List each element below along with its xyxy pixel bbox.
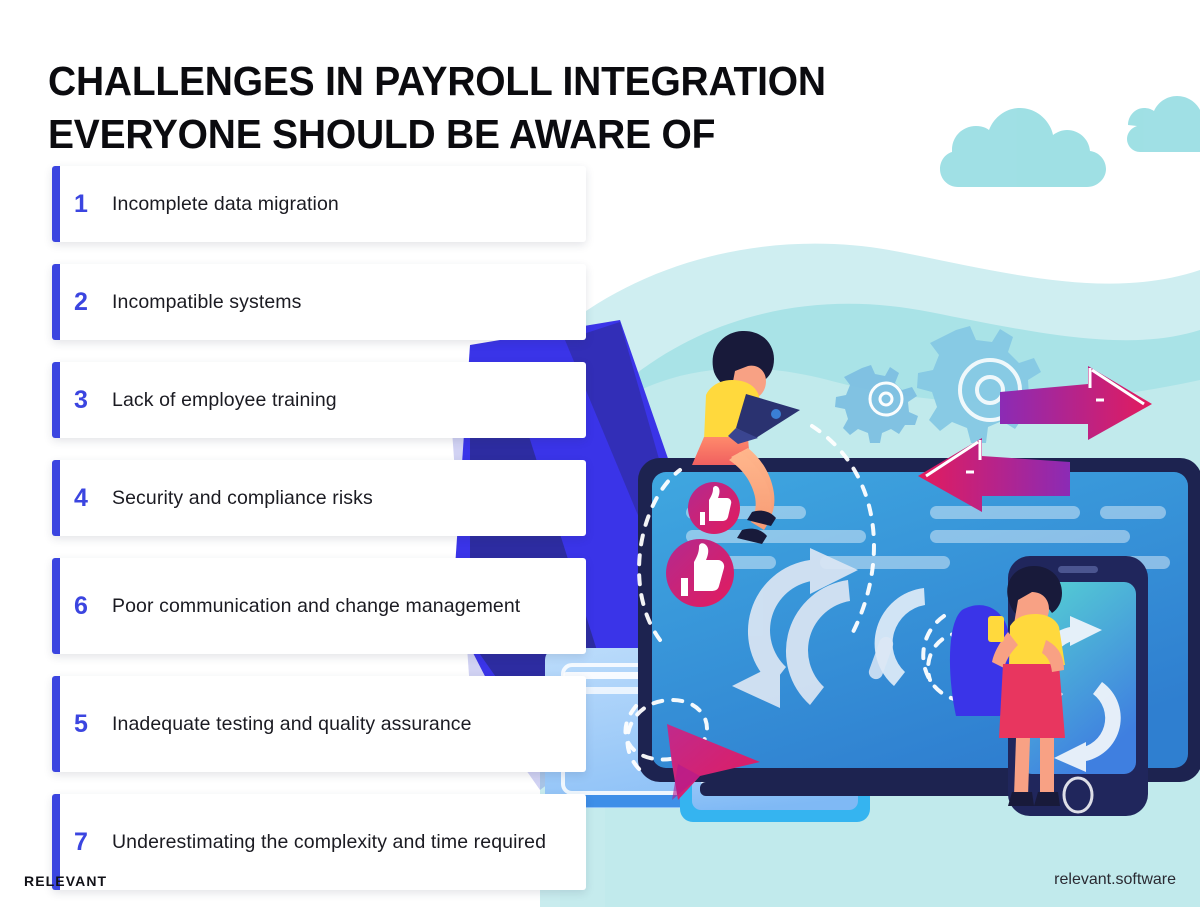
brand-logo: RELEVANT (24, 873, 107, 889)
list-item: 5 Inadequate testing and quality assuran… (52, 676, 586, 772)
sync-arrows-icon (732, 548, 858, 708)
list-item-number: 4 (52, 486, 112, 511)
monitor-screen (638, 458, 1200, 796)
window-card (680, 740, 870, 822)
gear-icon (917, 326, 1043, 443)
paper-plane-icon (667, 724, 760, 800)
list-item-label: Incompatible systems (112, 290, 586, 314)
tablet-device (1008, 556, 1148, 816)
wave-shape (605, 304, 1200, 907)
woman-with-phone (950, 566, 1065, 806)
tablet-device (1088, 520, 1200, 770)
list-item-number: 3 (52, 388, 112, 413)
list-item-number: 5 (52, 712, 112, 737)
page-title: CHALLENGES IN PAYROLL INTEGRATION EVERYO… (48, 55, 1008, 161)
list-item-label: Security and compliance risks (112, 486, 586, 510)
page-title-line-2: EVERYONE SHOULD BE AWARE OF (48, 108, 1008, 161)
dashed-flow-line (625, 426, 996, 770)
list-item-label: Poor communication and change management (112, 594, 586, 618)
website-url: relevant.software (1054, 871, 1176, 889)
sync-arrows-icon (875, 588, 925, 686)
list-item-label: Lack of employee training (112, 388, 586, 412)
list-item: 2 Incompatible systems (52, 264, 586, 340)
wave-shape (560, 244, 1200, 907)
sync-arrows-icon (867, 635, 895, 681)
infographic-page: CHALLENGES IN PAYROLL INTEGRATION EVERYO… (0, 0, 1200, 907)
magenta-arrow (918, 438, 1070, 512)
list-item-number: 1 (52, 192, 112, 217)
list-item-label: Inadequate testing and quality assurance (112, 712, 586, 736)
woman-with-laptop (692, 331, 800, 544)
gear-icon (835, 365, 918, 443)
thumbs-up-icon (666, 539, 734, 607)
list-item-number: 6 (52, 594, 112, 619)
list-item-label: Underestimating the complexity and time … (112, 830, 586, 854)
list-item: 7 Underestimating the complexity and tim… (52, 794, 586, 890)
list-item-number: 2 (52, 290, 112, 315)
list-item: 6 Poor communication and change manageme… (52, 558, 586, 654)
magenta-arrow (1000, 366, 1152, 440)
wave-shape (540, 368, 1200, 907)
list-item-label: Incomplete data migration (112, 192, 586, 216)
list-item: 3 Lack of employee training (52, 362, 586, 438)
list-item-number: 7 (52, 830, 112, 855)
sync-arrows-icon (1035, 616, 1120, 772)
list-item: 4 Security and compliance risks (52, 460, 586, 536)
list-item: 1 Incomplete data migration (52, 166, 586, 242)
page-title-line-1: CHALLENGES IN PAYROLL INTEGRATION (48, 55, 1008, 108)
challenges-list: 1 Incomplete data migration 2 Incompatib… (52, 166, 586, 907)
thumbs-up-icon (688, 482, 740, 534)
